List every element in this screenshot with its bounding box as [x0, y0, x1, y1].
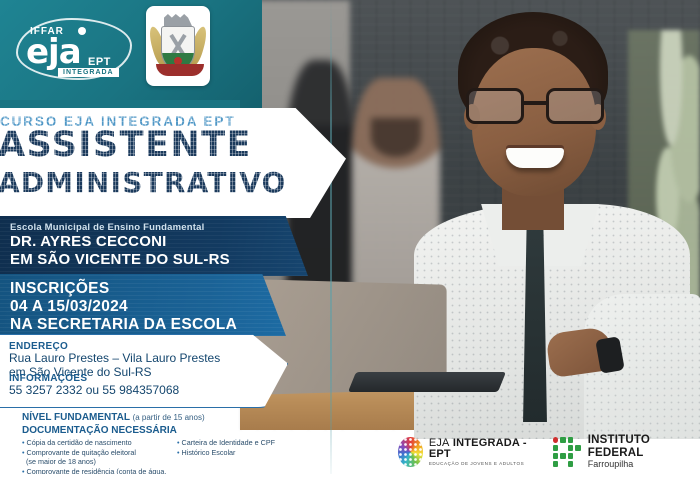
address-contact-panel: ENDEREÇO Rua Lauro Prestes – Vila Lauro … — [0, 334, 288, 408]
inscriptions-label: INSCRIÇÕES — [10, 280, 109, 297]
eja-integrada-name: EJA INTEGRADA - EPT — [429, 438, 531, 460]
list-item: • Comprovante de quitação eleitoral (se … — [22, 448, 167, 467]
if-cell — [553, 437, 559, 443]
if-cell — [575, 445, 581, 451]
title-line-1: ASSISTENTE — [0, 125, 252, 165]
if-cell — [560, 453, 566, 459]
contact-block: INFORMAÇÕES 55 3257 2332 ou 55 984357068 — [9, 373, 179, 398]
glasses-bridge — [524, 101, 546, 105]
if-cell — [553, 445, 559, 451]
list-item: • Histórico Escolar — [177, 448, 322, 458]
school-name-line-2: EM SÃO VICENTE DO SUL-RS — [10, 251, 230, 268]
inscriptions-text: INSCRIÇÕES 04 A 15/03/2024 NA SECRETARIA… — [10, 280, 237, 334]
coat-of-arms-icon — [146, 6, 210, 86]
coat-of-arms-ribbon — [156, 64, 204, 76]
eja-logo-ept-label: EPT — [88, 56, 111, 68]
if-cell — [553, 461, 559, 467]
list-item: • Carteira de Identidade e CPF — [177, 438, 322, 448]
coat-of-arms-inner — [152, 12, 204, 80]
glasses-lens-right — [546, 88, 604, 124]
if-cell — [575, 437, 581, 443]
bullet-icon: • — [177, 438, 180, 447]
bullet-icon: • — [22, 438, 25, 447]
glasses-lens-left — [466, 88, 524, 124]
school-name-line-1: DR. AYRES CECCONI — [10, 233, 166, 250]
inscriptions-location: NA SECRETARIA DA ESCOLA — [10, 316, 237, 333]
documents-title: DOCUMENTAÇÃO NECESSÁRIA — [22, 425, 322, 436]
if-cell — [568, 437, 574, 443]
if-cell — [568, 453, 574, 459]
glasses-icon — [464, 88, 606, 124]
education-level-note: (a partir de 15 anos) — [133, 413, 205, 422]
education-level-label: NÍVEL FUNDAMENTAL — [22, 412, 130, 423]
if-cell — [568, 461, 574, 467]
eja-integrada-text: EJA INTEGRADA - EPT EDUCAÇÃO DE JOVENS E… — [429, 438, 531, 467]
contact-value: 55 3257 2332 ou 55 984357068 — [9, 384, 179, 398]
laptop-keyboard-base — [348, 372, 506, 392]
eja-logo-wordmark: eja — [26, 32, 81, 72]
if-cell — [575, 461, 581, 467]
bullet-icon: • — [22, 448, 25, 457]
address-line-1: Rua Lauro Prestes – Vila Lauro Prestes — [9, 351, 220, 365]
subject-smile — [506, 148, 564, 168]
bottom-white-bar — [0, 474, 700, 488]
poster-root: IFFAR eja EPT INTEGRADA CURSO EJA INTEGR… — [0, 0, 700, 488]
school-name: DR. AYRES CECCONI EM SÃO VICENTE DO SUL-… — [10, 233, 230, 268]
eja-integrada-logo: EJA INTEGRADA - EPT EDUCAÇÃO DE JOVENS E… — [398, 437, 531, 467]
if-cell — [560, 445, 566, 451]
list-item: • Cópia da certidão de nascimento — [22, 438, 167, 448]
instituto-federal-campus: Farroupilha — [588, 460, 688, 470]
eja-iffar-logo: IFFAR eja EPT INTEGRADA — [16, 18, 132, 80]
bullet-icon: • — [177, 448, 180, 457]
document-text: Cópia da certidão de nascimento — [27, 438, 132, 447]
title-line-2: ADMINISTRATIVO — [0, 165, 287, 200]
globe-icon — [398, 437, 423, 467]
inscriptions-panel: INSCRIÇÕES 04 A 15/03/2024 NA SECRETARIA… — [0, 274, 286, 336]
if-cell — [575, 453, 581, 459]
crown-icon — [164, 14, 192, 26]
if-cell — [560, 437, 566, 443]
title-banner: CURSO EJA INTEGRADA EPT ASSISTENTE ADMIN… — [0, 108, 346, 218]
instituto-federal-text: INSTITUTO FEDERAL Farroupilha — [588, 434, 688, 469]
decorative-diagonal-line — [330, 0, 332, 488]
if-cell — [568, 445, 574, 451]
document-text: Carteira de Identidade e CPF — [182, 438, 276, 447]
page-title: ASSISTENTE ADMINISTRATIVO — [0, 128, 287, 200]
inscriptions-dates: 04 A 15/03/2024 — [10, 298, 128, 315]
eja-integrada-tagline: EDUCAÇÃO DE JOVENS E ADULTOS — [429, 462, 531, 467]
education-level: NÍVEL FUNDAMENTAL (a partir de 15 anos) — [22, 412, 322, 423]
document-text: Comprovante de quitação eleitoral — [27, 448, 136, 457]
eja-logo-integrada-label: INTEGRADA — [58, 68, 119, 77]
document-text: Histórico Escolar — [182, 448, 236, 457]
footer-logos: EJA INTEGRADA - EPT EDUCAÇÃO DE JOVENS E… — [398, 428, 688, 476]
document-subtext: (se maior de 18 anos) — [22, 457, 167, 467]
instituto-federal-logo: INSTITUTO FEDERAL Farroupilha — [553, 434, 688, 469]
if-cell — [560, 461, 566, 467]
instituto-federal-name: INSTITUTO FEDERAL — [588, 434, 688, 459]
instituto-federal-mark-icon — [553, 437, 581, 467]
school-panel: Escola Municipal de Ensino Fundamental D… — [0, 216, 308, 276]
school-prefix: Escola Municipal de Ensino Fundamental — [10, 222, 204, 233]
if-cell — [553, 453, 559, 459]
